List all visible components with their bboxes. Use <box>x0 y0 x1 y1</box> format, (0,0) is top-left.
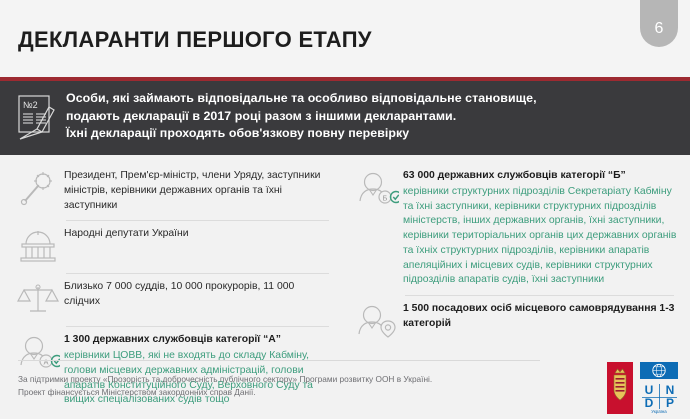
right-column: Б 63 000 державних службовців категорії … <box>345 162 690 360</box>
svg-text:U: U <box>645 383 654 397</box>
category-badge-letter: Б <box>383 194 388 203</box>
declarant-categories: Президент, Прем'єр-міністр, члени Уряду,… <box>0 155 690 360</box>
banner-line-1: Особи, які займають відповідальне та осо… <box>66 90 537 108</box>
list-item-text: Близько 7 000 суддів, 10 000 прокурорів,… <box>64 280 333 310</box>
list-item-body: 1 500 посадових осіб місцевого самовряду… <box>399 302 678 333</box>
left-column: Президент, Прем'єр-міністр, члени Уряду,… <box>0 162 345 360</box>
list-item-subtext: керівники структурних підрозділів Секрет… <box>403 185 678 288</box>
banner-line-3: Їхні декларації проходять обов'язкову по… <box>66 125 537 143</box>
footer-line-2: Проект фінансується Міністерством закорд… <box>18 386 432 399</box>
footer-line-1: За підтримки проекту «Прозорість та добр… <box>18 373 432 386</box>
mace-bulava-icon <box>16 170 60 208</box>
banner-text: Особи, які займають відповідальне та осо… <box>60 90 537 143</box>
svg-text:N: N <box>666 383 675 397</box>
local-official-location-pin-icon <box>355 303 399 341</box>
list-item: Б 63 000 державних службовців категорії … <box>355 162 678 295</box>
list-item-heading: 63 000 державних службовців категорії “Б… <box>403 169 678 184</box>
list-item-body: 63 000 державних службовців категорії “Б… <box>399 169 678 288</box>
undp-logo: UN DP Україна <box>638 362 680 414</box>
list-item-text: Народні депутати України <box>64 227 333 242</box>
list-item-text: Президент, Прем'єр-міністр, члени Уряду,… <box>64 169 333 213</box>
list-item: Президент, Прем'єр-міністр, члени Уряду,… <box>16 162 333 220</box>
svg-text:P: P <box>666 396 674 410</box>
slide-header: ДЕКЛАРАНТИ ПЕРШОГО ЕТАПУ 6 <box>0 0 690 77</box>
list-item: 1 500 посадових осіб місцевого самовряду… <box>355 295 678 348</box>
banner-line-2: подають декларації в 2017 році разом з і… <box>66 108 537 126</box>
summary-banner: №2 Особи, які займають відповідальне та … <box>0 77 690 155</box>
list-item: Народні депутати України <box>16 220 333 273</box>
scales-of-justice-icon <box>16 281 60 319</box>
footer-logos: UN DP Україна <box>607 362 680 414</box>
list-item: Близько 7 000 суддів, 10 000 прокурорів,… <box>16 273 333 326</box>
page-number-badge: 6 <box>640 0 678 47</box>
list-item-heading: 1 300 державних службовців категорії “А” <box>64 333 333 348</box>
svg-text:№2: №2 <box>23 100 38 110</box>
slide-footer: За підтримки проекту «Прозорість та добр… <box>0 360 690 416</box>
document-number-two-with-pen-icon: №2 <box>14 92 60 144</box>
list-item-body: Близько 7 000 суддів, 10 000 прокурорів,… <box>60 280 333 310</box>
official-person-category-b-icon: Б <box>355 170 399 208</box>
svg-text:D: D <box>645 396 654 410</box>
list-item-body: Президент, Прем'єр-міністр, члени Уряду,… <box>60 169 333 213</box>
list-item-heading: 1 500 посадових осіб місцевого самовряду… <box>403 302 678 332</box>
list-item-body: Народні депутати України <box>60 227 333 242</box>
denmark-coat-of-arms-logo <box>607 362 633 414</box>
parliament-building-icon <box>16 228 60 266</box>
undp-caption: Україна <box>651 409 667 414</box>
page-title: ДЕКЛАРАНТИ ПЕРШОГО ЕТАПУ <box>18 27 372 53</box>
footer-divider <box>18 360 540 361</box>
footer-text: За підтримки проекту «Прозорість та добр… <box>18 373 432 400</box>
